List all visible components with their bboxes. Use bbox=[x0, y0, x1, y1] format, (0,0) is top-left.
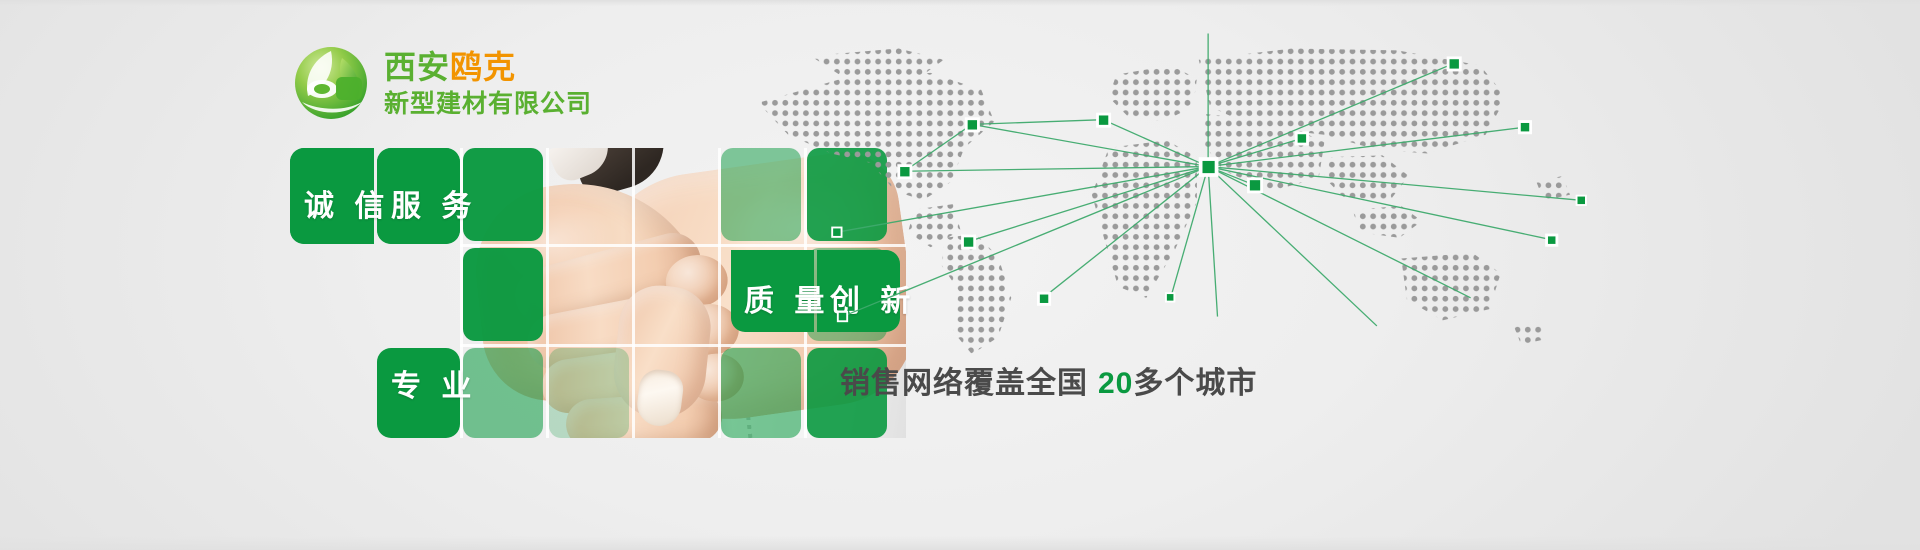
tagline-lead: 销售网络覆盖全国 bbox=[840, 367, 1088, 400]
tile-label-expertise: 专 业 bbox=[391, 361, 477, 405]
logo-city: 西安 bbox=[384, 49, 450, 85]
tile-label-integrity: 诚 信 bbox=[304, 181, 390, 225]
tile-label-service: 服 务 bbox=[391, 181, 477, 225]
logo-company-name-line1: 西安鸥克 bbox=[384, 51, 592, 83]
tile-cell bbox=[463, 248, 543, 341]
grid-line-v bbox=[632, 148, 635, 438]
sales-network-tagline: 销售网络覆盖全国20多个城市 bbox=[840, 358, 1257, 402]
dotted-world-map bbox=[730, 10, 1630, 370]
tile-cell bbox=[549, 348, 629, 438]
tagline-highlight: 20 bbox=[1098, 367, 1133, 400]
tagline-tail: 多个城市 bbox=[1133, 367, 1257, 400]
company-banner: 西安鸥克 新型建材有限公司 bbox=[0, 0, 1920, 550]
logo-brand: 鸥克 bbox=[450, 49, 516, 85]
logo-text-block: 西安鸥克 新型建材有限公司 bbox=[384, 49, 592, 117]
company-logo[interactable]: 西安鸥克 新型建材有限公司 bbox=[292, 44, 592, 122]
green-globe-leaf-icon bbox=[292, 44, 370, 122]
logo-company-suffix: 新型建材有限公司 bbox=[384, 92, 592, 117]
